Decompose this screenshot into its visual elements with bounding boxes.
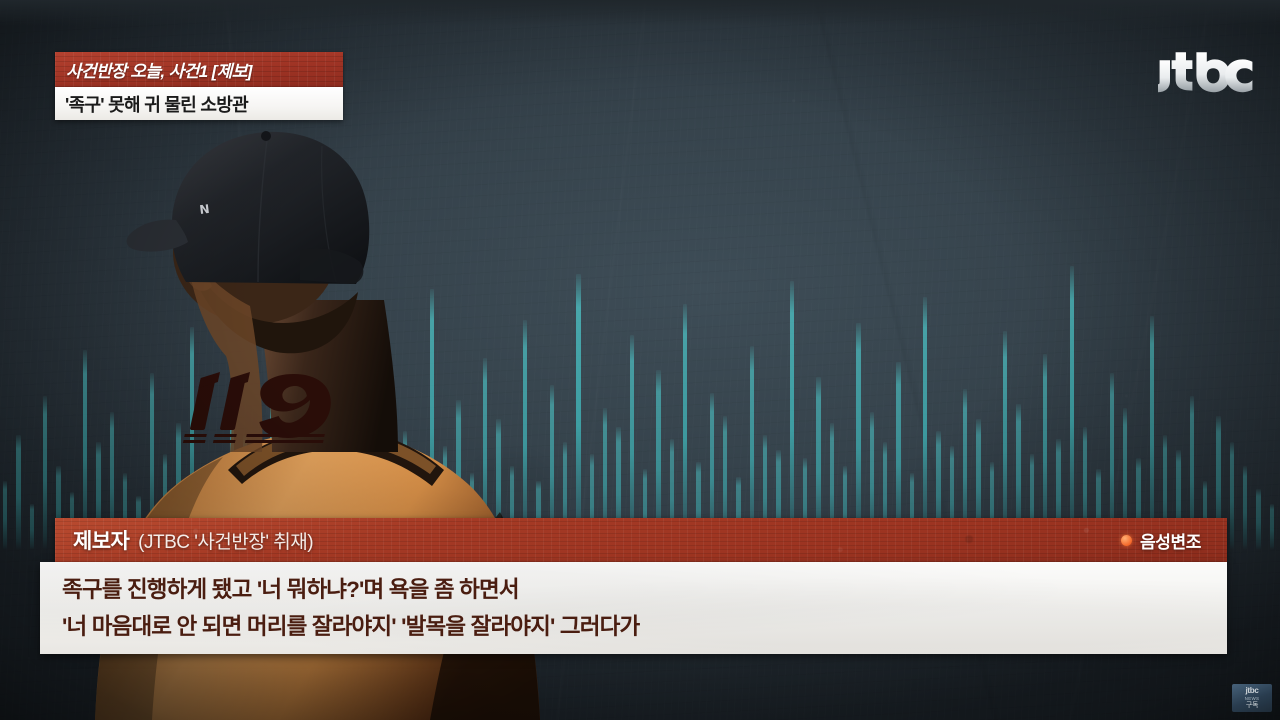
speaker-bar: 제보자 (JTBC '사건반장' 취재) 음성변조 — [55, 518, 1227, 562]
jtbc-logo — [1158, 52, 1254, 94]
record-dot-icon — [1121, 535, 1132, 546]
voice-modulation-badge: 음성변조 — [1121, 528, 1201, 553]
headline-banner-label: '족구' 못해 귀 물린 소방관 — [65, 91, 248, 117]
program-banner-label: 사건반장 오늘, 사건1 [제보] — [66, 57, 252, 82]
caption-line-2: '너 마음대로 안 되면 머리를 잘라야지' '발목을 잘라야지' 그러다가 — [62, 608, 1227, 645]
watermark-label: 구독 — [1246, 702, 1258, 710]
caption-box: 족구를 진행하게 됐고 '너 뭐하냐?'며 욕을 좀 하면서 '너 마음대로 안… — [40, 562, 1227, 654]
topic-banner: 사건반장 오늘, 사건1 [제보] '족구' 못해 귀 물린 소방관 — [55, 52, 343, 120]
speaker-affiliation: (JTBC '사건반장' 취재) — [138, 527, 313, 554]
headline-banner: '족구' 못해 귀 물린 소방관 — [55, 87, 343, 120]
speaker-name: 제보자 — [73, 525, 129, 555]
watermark-brand: jtbc — [1245, 687, 1258, 695]
broadcast-screenshot: N 사건반장 오늘, 사건1 [제보 — [0, 0, 1280, 720]
watermark-sub-brand: NEWS — [1245, 696, 1260, 701]
subscribe-watermark: jtbc NEWS 구독 — [1232, 684, 1272, 712]
program-banner: 사건반장 오늘, 사건1 [제보] — [55, 52, 343, 87]
voice-modulation-label: 음성변조 — [1140, 528, 1201, 553]
background-top-shade — [0, 0, 1280, 26]
caption-line-1: 족구를 진행하게 됐고 '너 뭐하냐?'며 욕을 좀 하면서 — [62, 571, 1227, 608]
